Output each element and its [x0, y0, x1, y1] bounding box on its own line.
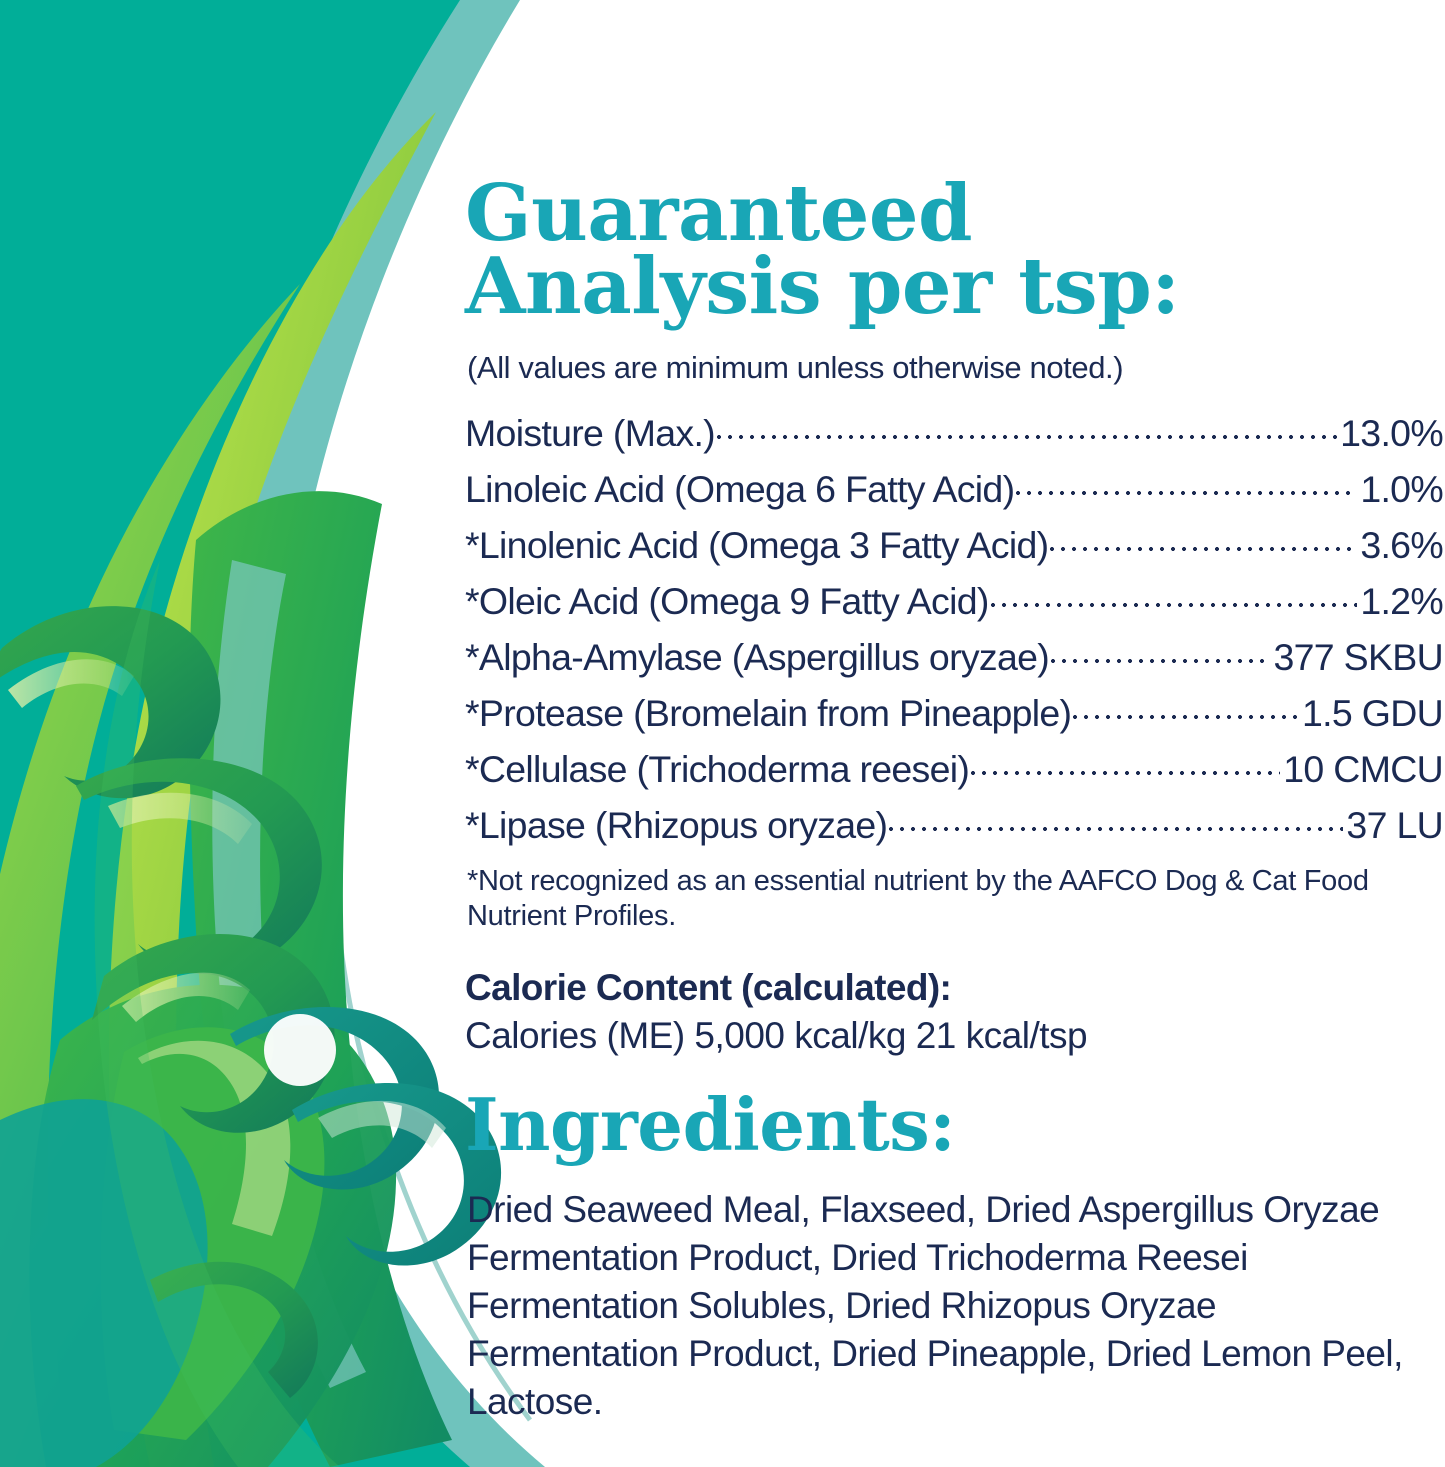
analysis-row-value: 1.0% — [1360, 468, 1443, 511]
leader-dots — [991, 576, 1358, 614]
calorie-content-value: Calories (ME) 5,000 kcal/kg 21 kcal/tsp — [465, 1014, 1425, 1058]
analysis-row: *Linolenic Acid (Omega 3 Fatty Acid) 3.6… — [465, 520, 1443, 576]
guaranteed-analysis-footnote: *Not recognized as an essential nutrient… — [467, 864, 1422, 934]
analysis-row: *Cellulase (Trichoderma reesei) 10 CMCU — [465, 744, 1443, 800]
analysis-row-value: 37 LU — [1346, 804, 1443, 847]
analysis-row-label: *Cellulase (Trichoderma reesei) — [465, 748, 969, 791]
guaranteed-analysis-title: Guaranteed Analysis per tsp: — [465, 178, 1225, 323]
leader-dots — [889, 800, 1343, 838]
ingredients-title: Ingredients: — [465, 1092, 955, 1159]
leader-dots — [1073, 688, 1299, 726]
analysis-row: *Lipase (Rhizopus oryzae) 37 LU — [465, 800, 1443, 856]
ga-title-line-2: Analysis per tsp: — [465, 251, 1225, 324]
calorie-content-block: Calorie Content (calculated): Calories (… — [465, 966, 1425, 1058]
analysis-row: Linoleic Acid (Omega 6 Fatty Acid) 1.0% — [465, 464, 1443, 520]
leader-dots — [1050, 520, 1357, 558]
guaranteed-analysis-rows: Moisture (Max.) 13.0% Linoleic Acid (Ome… — [465, 408, 1443, 856]
seaweed-blade-mid — [189, 491, 452, 1467]
leader-dots — [1051, 632, 1270, 670]
analysis-row-label: Moisture (Max.) — [465, 412, 715, 455]
analysis-row: *Alpha-Amylase (Aspergillus oryzae) 377 … — [465, 632, 1443, 688]
leader-dots — [971, 744, 1280, 782]
label-content: Guaranteed Analysis per tsp: (All values… — [465, 0, 1443, 1467]
analysis-row-label: *Linolenic Acid (Omega 3 Fatty Acid) — [465, 524, 1048, 567]
analysis-row: *Oleic Acid (Omega 9 Fatty Acid) 1.2% — [465, 576, 1443, 632]
analysis-row-value: 3.6% — [1360, 524, 1443, 567]
analysis-row-value: 1.2% — [1360, 580, 1443, 623]
nutrition-label-panel: Guaranteed Analysis per tsp: (All values… — [0, 0, 1445, 1467]
seaweed-frond-group — [0, 606, 501, 1398]
analysis-row-label: *Alpha-Amylase (Aspergillus oryzae) — [465, 636, 1049, 679]
analysis-row: *Protease (Bromelain from Pineapple) 1.5… — [465, 688, 1443, 744]
analysis-row-value: 13.0% — [1340, 412, 1443, 455]
ingredients-body: Dried Seaweed Meal, Flaxseed, Dried Aspe… — [467, 1186, 1427, 1426]
analysis-row-label: *Lipase (Rhizopus oryzae) — [465, 804, 887, 847]
guaranteed-analysis-note: (All values are minimum unless otherwise… — [467, 350, 1123, 386]
analysis-row-value: 377 SKBU — [1273, 636, 1443, 679]
analysis-row-label: Linoleic Acid (Omega 6 Fatty Acid) — [465, 468, 1014, 511]
analysis-row-label: *Protease (Bromelain from Pineapple) — [465, 692, 1071, 735]
analysis-row-value: 10 CMCU — [1283, 748, 1443, 791]
analysis-row-value: 1.5 GDU — [1302, 692, 1443, 735]
ga-title-line-1: Guaranteed — [465, 178, 1225, 251]
leader-dots — [1016, 464, 1357, 502]
analysis-row: Moisture (Max.) 13.0% — [465, 408, 1443, 464]
leader-dots — [717, 408, 1337, 446]
analysis-row-label: *Oleic Acid (Omega 9 Fatty Acid) — [465, 580, 989, 623]
calorie-content-heading: Calorie Content (calculated): — [465, 966, 1425, 1010]
seaweed-blade-tall — [109, 112, 436, 1467]
